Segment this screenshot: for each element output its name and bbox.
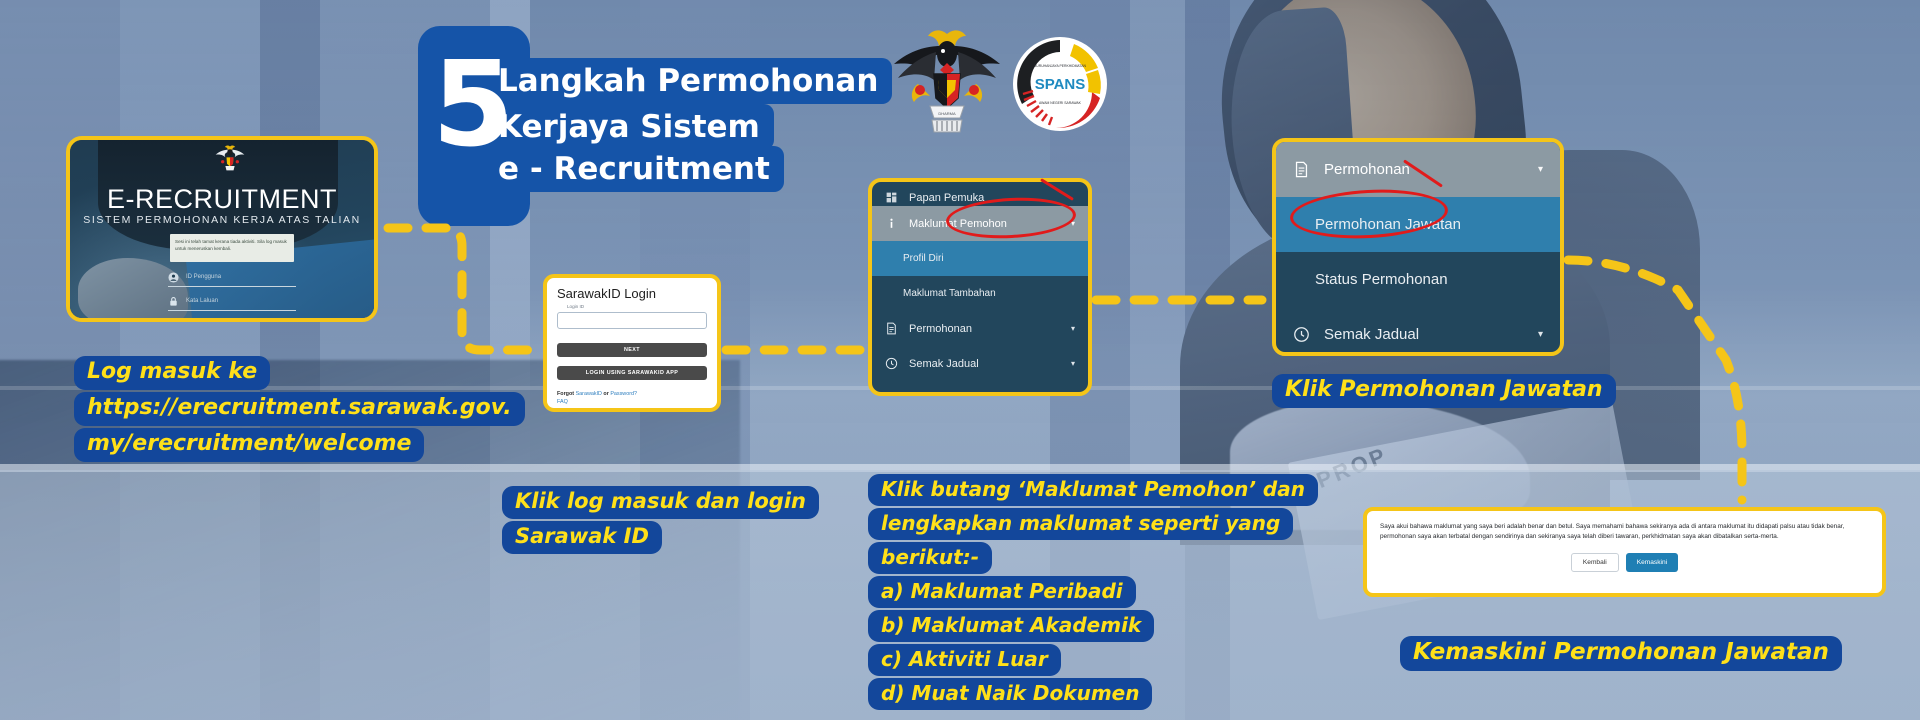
callout-line: https://erecruitment.sarawak.gov. [74,392,525,426]
erecruitment-title: E-RECRUITMENT [70,184,374,215]
svg-text:SURUHANJAYA PERKHIDMATAN: SURUHANJAYA PERKHIDMATAN [1034,64,1086,68]
login-button[interactable]: Log Masuk [168,318,296,322]
header-title-line-3: e - Recruitment [490,146,784,192]
user-icon [168,272,179,283]
next-button[interactable]: NEXT [557,343,707,357]
user-id-field[interactable]: ID Pengguna [168,268,296,287]
dashboard-icon [885,191,898,204]
menu-item-maklumat-tambahan[interactable]: Maklumat Tambahan [872,276,1088,311]
menu-item-status-permohonan[interactable]: Status Permohonan [1276,252,1560,307]
chevron-down-icon: ▾ [1538,164,1543,175]
erecruitment-subtitle: SISTEM PERMOHONAN KERJA ATAS TALIAN [70,214,374,226]
menu-label: Maklumat Tambahan [903,288,996,299]
menu-item-profil-diri[interactable]: Profil Diri [872,241,1088,276]
chevron-down-icon: ▾ [1071,359,1075,368]
document-icon [1293,161,1310,178]
header-title-line-2: Kerjaya Sistem [490,104,774,150]
spans-logo-icon: SPANS SURUHANJAYA PERKHIDMATAN AWAM NEGE… [1012,36,1108,132]
menu-item-semak-jadual[interactable]: Semak Jadual ▾ [872,346,1088,381]
lock-icon [168,296,179,307]
clock-icon [885,357,898,370]
login-using-sarawakid-app-button[interactable]: LOGIN USING SARAWAKID APP [557,366,707,380]
menu-item-permohonan-jawatan[interactable]: Permohonan Jawatan [1276,197,1560,252]
forgot-password-link[interactable]: Password? [610,391,637,397]
callout-line: Klik butang ‘Maklumat Pemohon’ dan [868,474,1318,506]
forgot-row: Forgot SarawakID or Password? [557,390,707,399]
menu-item-papan-pemuka[interactable]: Papan Pemuka [872,182,1088,206]
menu-label: Semak Jadual [909,358,979,370]
callout-line: b) Maklumat Akademik [868,610,1154,642]
sarawakid-links: Forgot SarawakID or Password? FAQ [557,390,707,407]
faq-link[interactable]: FAQ [557,399,568,405]
callout-line: Kemaskini Permohonan Jawatan [1400,636,1842,671]
svg-text:DHARMA: DHARMA [938,111,956,116]
header-step-number: 5 [432,48,514,160]
callout-line: berikut:- [868,542,992,574]
panel-erecruitment-login[interactable]: E-RECRUITMENT SISTEM PERMOHONAN KERJA AT… [66,136,378,322]
chevron-down-icon: ▾ [1071,324,1075,333]
forgot-sarawakid-link[interactable]: SarawakID [576,391,602,397]
info-icon [885,217,898,230]
login-id-legend: Login ID [564,304,587,309]
login-id-input[interactable] [557,312,707,329]
menu-item-semak-jadual[interactable]: Semak Jadual ▾ [1276,307,1560,356]
callout-line: d) Muat Naik Dokumen [868,678,1152,710]
declaration-text: Saya akui bahawa maklumat yang saya beri… [1380,522,1869,542]
callout-maklumat-pemohon: Klik butang ‘Maklumat Pemohon’ dan lengk… [868,474,1318,712]
menu-label: Semak Jadual [1324,326,1419,343]
forgot-label: Forgot [557,391,576,397]
callout-line: lengkapkan maklumat seperti yang [868,508,1293,540]
menu-item-permohonan[interactable]: Permohonan ▾ [872,311,1088,346]
menu-label: Permohonan [909,323,972,335]
password-field[interactable]: Kata Laluan [168,292,296,311]
svg-text:AWAM NEGERI SARAWAK: AWAM NEGERI SARAWAK [1039,101,1082,105]
sarawak-coat-of-arms-icon [214,142,246,176]
callout-line: Log masuk ke [74,356,270,390]
spans-logo-text: SPANS [1035,76,1086,93]
kemaskini-button[interactable]: Kemaskini [1626,553,1678,572]
callout-login-url: Log masuk ke https://erecruitment.sarawa… [74,356,525,464]
callout-line: c) Aktiviti Luar [868,644,1061,676]
header-title-line-1: Langkah Permohonan [490,58,892,104]
password-label: Kata Laluan [186,298,218,304]
callout-line: a) Maklumat Peribadi [868,576,1136,608]
chevron-down-icon: ▾ [1538,329,1543,340]
declaration-actions: Kembali Kemaskini [1380,553,1869,572]
menu-label: Permohonan Jawatan [1315,216,1461,233]
infographic-canvas: PROP 5 Langkah Permohonan Kerjaya Sistem… [0,0,1920,720]
menu-label: Maklumat Pemohon [909,218,1007,230]
callout-line: Sarawak ID [502,521,662,554]
panel-sarawakid-login[interactable]: SarawakID Login Login ID NEXT LOGIN USIN… [543,274,721,412]
callout-line: my/erecruitment/welcome [74,428,424,462]
clock-icon [1293,326,1310,343]
session-expired-notice: Sesi ini telah tamat kerana tiada aktivi… [170,234,294,262]
document-icon [885,322,898,335]
menu-item-maklumat-pemohon[interactable]: Maklumat Pemohon ▾ [872,206,1088,241]
menu-label: Profil Diri [903,253,944,264]
menu-label: Status Permohonan [1315,271,1448,288]
user-id-label: ID Pengguna [186,274,221,280]
callout-line: Klik log masuk dan login [502,486,819,519]
chevron-down-icon: ▾ [1071,219,1075,228]
panel-menu-maklumat-pemohon[interactable]: Papan Pemuka Maklumat Pemohon ▾ Profil D… [868,178,1092,396]
menu-label: Permohonan [1324,161,1410,178]
login-id-field-wrap: Login ID [557,308,707,329]
sarawakid-title: SarawakID Login [557,286,707,301]
sarawak-coat-of-arms-icon: DHARMA [888,18,1006,142]
callout-line: Klik Permohonan Jawatan [1272,374,1616,408]
panel-declaration-dialog[interactable]: Saya akui bahawa maklumat yang saya beri… [1363,507,1886,597]
callout-permohonan-jawatan: Klik Permohonan Jawatan [1272,374,1616,410]
kembali-button[interactable]: Kembali [1571,553,1619,572]
menu-label: Papan Pemuka [909,192,984,204]
callout-click-login: Klik log masuk dan login Sarawak ID [502,486,819,556]
callout-kemaskini: Kemaskini Permohonan Jawatan [1400,636,1842,673]
